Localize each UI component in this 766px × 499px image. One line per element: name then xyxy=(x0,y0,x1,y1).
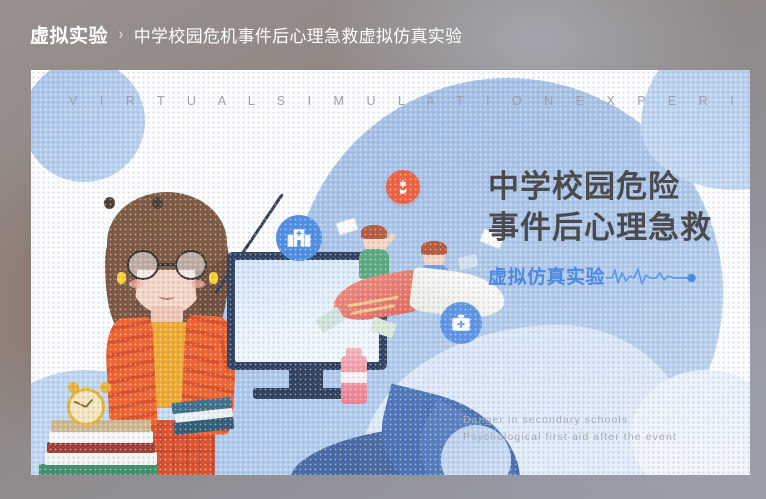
cheek-right xyxy=(191,280,205,288)
book-stack-illustration xyxy=(37,412,167,475)
mouth xyxy=(159,292,175,300)
stack-book-white-1 xyxy=(45,452,157,465)
child-right xyxy=(423,246,445,268)
glasses-icon xyxy=(125,250,211,280)
cheek-left xyxy=(129,280,143,288)
glasses-lens-left xyxy=(127,250,159,280)
headline-line-2: 事件后心理急救 xyxy=(488,207,750,248)
headline-line-1: 中学校园危险 xyxy=(488,166,750,207)
banner-eyebrow-text: V I R T U A L S I M U L A T I O N E X P … xyxy=(69,94,750,108)
banner-artwork: V I R T U A L S I M U L A T I O N E X P … xyxy=(31,70,750,475)
children-reading-illustration xyxy=(331,216,511,336)
child-left xyxy=(363,230,385,252)
stack-book-red xyxy=(47,442,155,453)
bottle-label xyxy=(341,372,367,383)
child-left-hair xyxy=(361,225,387,239)
clock-bell-right xyxy=(100,382,111,393)
banner-headline: 中学校园危险 事件后心理急救 虚拟仿真实验 xyxy=(488,166,750,289)
medicine-bottle xyxy=(341,348,367,404)
eye-right xyxy=(152,197,163,209)
banner-english-caption: Danger in secondary schools Psychologica… xyxy=(463,412,677,447)
breadcrumb-current-item: 中学校园危机事件后心理急救虚拟仿真实验 xyxy=(134,22,463,47)
clock-minute-hand xyxy=(74,401,87,408)
english-line-2: Psychological first aid after the event xyxy=(463,429,677,446)
eye-left xyxy=(104,197,115,209)
glasses-bridge xyxy=(159,263,175,266)
experiment-banner[interactable]: V I R T U A L S I M U L A T I O N E X P … xyxy=(31,70,750,475)
english-line-1: Danger in secondary schools xyxy=(463,412,677,429)
clock-bell-left xyxy=(68,382,79,393)
monitor-stand-neck xyxy=(289,370,323,390)
first-aid-icon xyxy=(386,170,420,204)
glasses-lens-right xyxy=(175,250,207,280)
banner-subtitle: 虚拟仿真实验 xyxy=(488,262,605,289)
stack-book-tan xyxy=(51,420,151,432)
stack-book-white-2 xyxy=(49,431,153,443)
banner-subtitle-row: 虚拟仿真实验 xyxy=(488,262,750,289)
medical-kit-icon xyxy=(440,302,482,344)
breadcrumb-root-link[interactable]: 虚拟实验 xyxy=(30,21,108,48)
flying-page-5 xyxy=(458,254,478,269)
decorative-circle-top-left xyxy=(31,70,145,182)
clock-hour-hand xyxy=(85,399,93,408)
chevron-right-icon: › xyxy=(119,24,123,44)
held-books xyxy=(171,397,234,437)
heartbeat-line-icon xyxy=(606,265,698,287)
breadcrumb: 虚拟实验 › 中学校园危机事件后心理急救虚拟仿真实验 xyxy=(30,18,462,50)
child-right-hair xyxy=(421,241,447,255)
hospital-icon xyxy=(276,215,322,261)
flying-page-4 xyxy=(369,317,396,339)
flying-page-2 xyxy=(335,217,358,236)
stack-book-green xyxy=(39,464,157,475)
alarm-clock-icon xyxy=(67,388,105,426)
